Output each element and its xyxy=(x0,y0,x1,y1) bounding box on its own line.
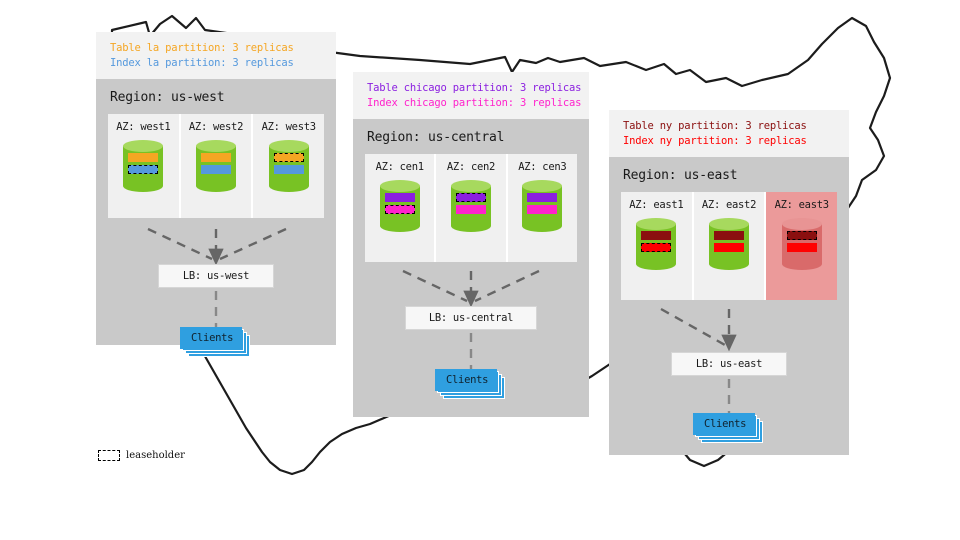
region-panel-us-east: Table ny partition: 3 replicas Index ny … xyxy=(609,110,849,455)
az-strip-us-central: AZ: cen1 AZ: cen2 xyxy=(365,154,577,262)
az-strip-us-east: AZ: east1 AZ: east2 xyxy=(621,192,837,300)
arrow-west3-to-lb xyxy=(220,229,286,259)
node-cylinder[interactable] xyxy=(636,218,676,270)
node-cylinder[interactable] xyxy=(522,180,562,232)
partition-line-table: Table chicago partition: 3 replicas xyxy=(367,81,575,96)
az-label: AZ: east1 xyxy=(629,199,683,211)
replica-index xyxy=(787,243,817,252)
az-label: AZ: west1 xyxy=(116,121,170,133)
replica-index xyxy=(714,243,744,252)
cylinder-top xyxy=(196,140,236,152)
replica-table xyxy=(201,153,231,162)
partition-line-table: Table la partition: 3 replicas xyxy=(110,41,322,56)
replica-table xyxy=(527,193,557,202)
cylinder-top xyxy=(380,180,420,192)
region-title: Region: us-east xyxy=(609,157,849,192)
load-balancer-us-west[interactable]: LB: us-west xyxy=(158,264,274,288)
leaseholder-swatch-icon xyxy=(98,450,120,461)
region-body-us-central: Region: us-central AZ: cen1 AZ: cen2 xyxy=(353,119,589,417)
arrow-cen3-to-lb xyxy=(475,271,539,301)
clients-us-central[interactable]: Clients xyxy=(435,369,507,399)
region-body-us-west: Region: us-west AZ: west1 AZ: west2 xyxy=(96,79,336,345)
az-east2[interactable]: AZ: east2 xyxy=(694,192,767,300)
clients-us-west[interactable]: Clients xyxy=(180,327,252,357)
az-strip-us-west: AZ: west1 AZ: west2 xyxy=(108,114,324,218)
arrow-cen1-to-lb xyxy=(403,271,467,301)
replica-index xyxy=(456,205,486,214)
replica-index xyxy=(201,165,231,174)
partition-line-index: Index ny partition: 3 replicas xyxy=(623,134,835,149)
az-west2[interactable]: AZ: west2 xyxy=(181,114,254,218)
replica-table-leaseholder xyxy=(787,231,817,240)
node-cylinder[interactable] xyxy=(269,140,309,192)
node-cylinder[interactable] xyxy=(709,218,749,270)
az-cen1[interactable]: AZ: cen1 xyxy=(365,154,436,262)
az-label: AZ: west3 xyxy=(262,121,316,133)
az-label: AZ: west2 xyxy=(189,121,243,133)
clients-label: Clients xyxy=(693,413,755,435)
legend-label: leaseholder xyxy=(126,450,185,461)
replica-table-leaseholder xyxy=(274,153,304,162)
az-label: AZ: cen3 xyxy=(518,161,566,173)
partition-line-table: Table ny partition: 3 replicas xyxy=(623,119,835,134)
az-cen3[interactable]: AZ: cen3 xyxy=(508,154,577,262)
node-cylinder[interactable] xyxy=(380,180,420,232)
az-label: AZ: cen1 xyxy=(376,161,424,173)
cylinder-top xyxy=(451,180,491,192)
replica-table-leaseholder xyxy=(456,193,486,202)
region-panel-us-central: Table chicago partition: 3 replicas Inde… xyxy=(353,72,589,417)
region-header-us-west: Table la partition: 3 replicas Index la … xyxy=(96,32,336,79)
clients-label: Clients xyxy=(180,327,242,349)
node-cylinder[interactable] xyxy=(451,180,491,232)
replica-index-leaseholder xyxy=(385,205,415,214)
az-label: AZ: cen2 xyxy=(447,161,495,173)
az-east1[interactable]: AZ: east1 xyxy=(621,192,694,300)
cylinder-top xyxy=(269,140,309,152)
replica-index xyxy=(527,205,557,214)
region-body-us-east: Region: us-east AZ: east1 AZ: east2 xyxy=(609,157,849,455)
region-title: Region: us-central xyxy=(353,119,589,154)
load-balancer-us-central[interactable]: LB: us-central xyxy=(405,306,537,330)
cylinder-top xyxy=(782,218,822,230)
node-cylinder[interactable] xyxy=(123,140,163,192)
node-cylinder[interactable] xyxy=(196,140,236,192)
az-label: AZ: east3 xyxy=(775,199,829,211)
partition-line-index: Index chicago partition: 3 replicas xyxy=(367,96,575,111)
cylinder-top xyxy=(709,218,749,230)
legend-leaseholder: leaseholder xyxy=(98,450,185,461)
az-label: AZ: east2 xyxy=(702,199,756,211)
az-cen2[interactable]: AZ: cen2 xyxy=(436,154,507,262)
replica-table xyxy=(385,193,415,202)
node-cylinder-failed[interactable] xyxy=(782,218,822,270)
clients-label: Clients xyxy=(435,369,497,391)
cylinder-top xyxy=(522,180,562,192)
replica-index-leaseholder xyxy=(641,243,671,252)
replica-table xyxy=(714,231,744,240)
az-east3-failed[interactable]: AZ: east3 xyxy=(766,192,837,300)
load-balancer-us-east[interactable]: LB: us-east xyxy=(671,352,787,376)
partition-line-index: Index la partition: 3 replicas xyxy=(110,56,322,71)
replica-table xyxy=(128,153,158,162)
arrow-east1-to-lb xyxy=(661,309,725,345)
replica-index xyxy=(274,165,304,174)
az-west3[interactable]: AZ: west3 xyxy=(253,114,324,218)
clients-us-east[interactable]: Clients xyxy=(693,413,765,443)
replica-index-leaseholder xyxy=(128,165,158,174)
az-west1[interactable]: AZ: west1 xyxy=(108,114,181,218)
region-panel-us-west: Table la partition: 3 replicas Index la … xyxy=(96,32,336,345)
region-header-us-east: Table ny partition: 3 replicas Index ny … xyxy=(609,110,849,157)
arrow-west1-to-lb xyxy=(148,229,212,259)
region-header-us-central: Table chicago partition: 3 replicas Inde… xyxy=(353,72,589,119)
region-title: Region: us-west xyxy=(96,79,336,114)
replica-table xyxy=(641,231,671,240)
